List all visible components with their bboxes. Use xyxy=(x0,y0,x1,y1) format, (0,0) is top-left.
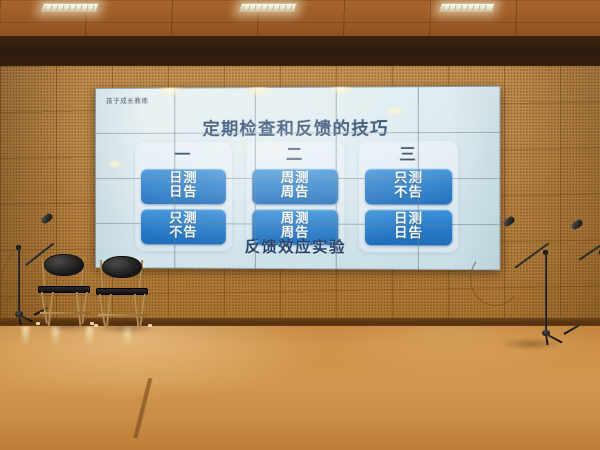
column-2-chip-2-line1: 周测 xyxy=(252,212,338,226)
slide-content: 孩子成长教练 定期检查和反馈的技巧 一 日测 日告 只测 不告 xyxy=(95,86,500,271)
microphone-head-2 xyxy=(502,215,516,228)
column-2-header: 二 xyxy=(286,145,304,164)
slide-title: 定期检查和反馈的技巧 xyxy=(95,113,500,140)
slide-corner-branding-tag: 孩子成长教练 xyxy=(106,95,149,105)
chair-left-leg-front-r xyxy=(82,292,88,324)
floor-seam-line xyxy=(0,378,600,438)
column-1-chip-2-line1: 只测 xyxy=(141,212,226,226)
column-1-chip-1-line1: 日测 xyxy=(141,172,226,186)
mic-stand-far-right[interactable] xyxy=(566,220,600,340)
chair-right-foot-2 xyxy=(148,324,152,327)
chair-left-leg-front-l xyxy=(41,292,48,324)
chair-right-leg-front-r xyxy=(140,294,146,326)
ceiling xyxy=(0,0,600,40)
chair-right-cross-rail xyxy=(98,314,148,316)
mic-boom-arm-3 xyxy=(578,242,600,261)
column-3-chip-1: 只测 不告 xyxy=(365,169,452,205)
upper-wall-dark-band xyxy=(0,36,600,70)
folding-chair-right[interactable] xyxy=(92,254,160,326)
chair-right-backrest xyxy=(102,256,142,278)
chair-left-foot-1 xyxy=(36,322,40,325)
ceiling-light-fixture-3 xyxy=(439,3,496,12)
chair-left-cross-rail xyxy=(40,312,90,314)
chair-right-seat xyxy=(96,288,148,295)
chair-left-leg-rear-r xyxy=(76,292,82,326)
column-3-chip-1-line1: 只测 xyxy=(365,172,452,186)
chair-left-leg-rear-l xyxy=(48,292,54,326)
microphone-head xyxy=(40,212,54,225)
ceiling-light-fixture-2 xyxy=(239,3,298,12)
mic-stand-pole-2 xyxy=(545,252,547,332)
column-1-chip-1-line2: 日告 xyxy=(141,186,226,200)
column-2-chip-1-line2: 周告 xyxy=(252,186,338,200)
column-1-header: 一 xyxy=(174,145,192,164)
column-3-chip-2-line1: 日测 xyxy=(365,213,452,227)
chair-right-foot-1 xyxy=(94,324,98,327)
column-2-chip-1-line1: 周测 xyxy=(252,172,338,186)
chair-right-leg-rear-r xyxy=(134,294,140,328)
chair-left-backrest xyxy=(44,254,84,276)
column-2-chip-1: 周测 周告 xyxy=(252,169,338,205)
microphone-head-3 xyxy=(570,218,584,231)
ceiling-light-fixture-1 xyxy=(41,3,100,12)
chair-left-seat xyxy=(38,286,90,293)
video-wall-display[interactable]: 孩子成长教练 定期检查和反馈的技巧 一 日测 日告 只测 不告 xyxy=(95,86,500,271)
chair-right-leg-rear-l xyxy=(106,294,112,328)
presentation-hall-scene: 孩子成长教练 定期检查和反馈的技巧 一 日测 日告 只测 不告 xyxy=(0,0,600,450)
column-1-chip-1: 日测 日告 xyxy=(141,169,226,204)
column-3-chip-1-line2: 不告 xyxy=(365,186,452,200)
column-3-header: 三 xyxy=(399,144,418,163)
chair-right-leg-front-l xyxy=(99,294,106,326)
